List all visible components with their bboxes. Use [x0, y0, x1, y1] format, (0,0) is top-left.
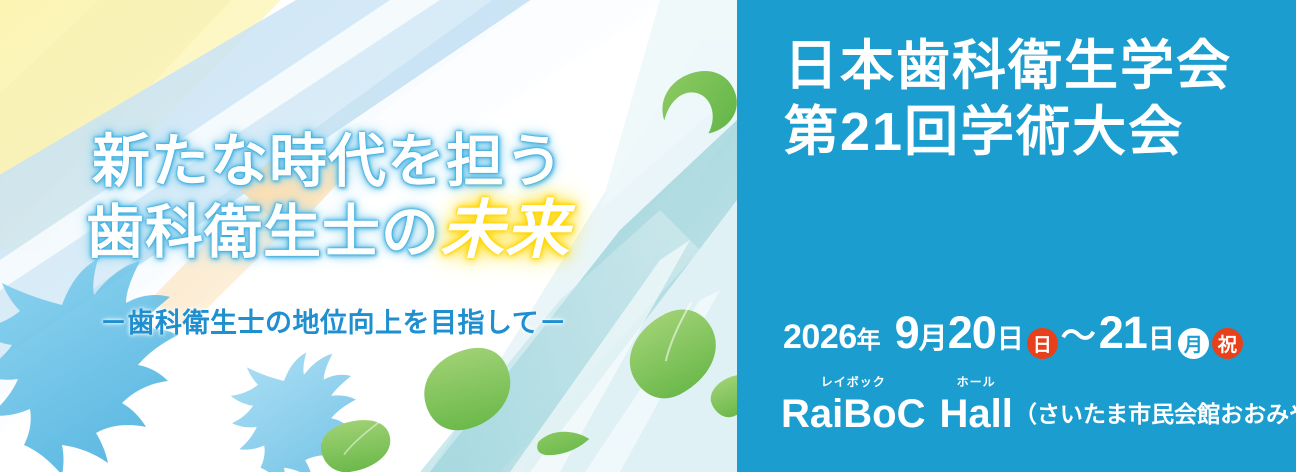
venue-name-part-1-group: レイボック RaiBoC	[781, 376, 925, 436]
slogan-subtitle: －歯科衛生士の地位向上を目指して－	[100, 306, 567, 340]
date-range-separator: 〜	[1061, 308, 1096, 359]
conference-title-line-2: 第21回学術大会	[784, 99, 1254, 165]
date-end-day: 21	[1099, 307, 1147, 359]
date-end-weekday-badge: 月	[1178, 328, 1209, 359]
conference-title-line-1: 日本歯科衛生学会	[784, 33, 1254, 99]
left-artwork-panel: 新たな時代を担う 歯科衛生士の未来 －歯科衛生士の地位向上を目指して－	[0, 0, 737, 472]
event-date: 2026 年 9 月 20 日 日 〜 21 日 月 祝	[783, 307, 1243, 359]
slogan-line-2-prefix: 歯科衛生士の	[86, 200, 440, 265]
date-start-weekday-badge: 日	[1027, 328, 1058, 359]
slogan-line-1: 新たな時代を担う	[92, 128, 706, 196]
venue-name-part-2: Hall	[939, 392, 1012, 436]
slogan: 新たな時代を担う 歯科衛生士の未来	[86, 128, 706, 267]
venue-name-part-1-ruby: レイボック	[821, 376, 886, 390]
date-year-unit: 年	[857, 320, 881, 355]
date-start-day-unit: 日	[997, 317, 1024, 356]
date-year: 2026	[783, 318, 857, 357]
venue-name-sub: （さいたま市民会館おおみや）	[1014, 392, 1296, 436]
slogan-line-2-highlight: 未来	[440, 194, 570, 266]
event-venue: レイボック RaiBoC ホール Hall （さいたま市民会館おおみや）	[781, 376, 1296, 436]
event-banner: 新たな時代を担う 歯科衛生士の未来 －歯科衛生士の地位向上を目指して－ 日本歯科…	[0, 0, 1296, 472]
venue-name-part-1: RaiBoC	[781, 392, 925, 436]
slogan-line-2: 歯科衛生士の未来	[86, 196, 706, 267]
venue-name-part-2-group: ホール Hall	[939, 376, 1012, 436]
venue-name-part-2-ruby: ホール	[957, 376, 996, 390]
slogan-line-1-text: 新たな時代を担う	[92, 129, 564, 194]
conference-title: 日本歯科衛生学会 第21回学術大会	[784, 33, 1254, 165]
date-month: 9	[895, 307, 919, 359]
date-holiday-badge: 祝	[1212, 328, 1243, 359]
date-end-day-unit: 日	[1148, 317, 1175, 356]
date-month-unit: 月	[919, 315, 948, 357]
date-start-day: 20	[948, 307, 996, 359]
right-info-panel: 日本歯科衛生学会 第21回学術大会 2026 年 9 月 20 日 日 〜 21…	[737, 0, 1296, 472]
